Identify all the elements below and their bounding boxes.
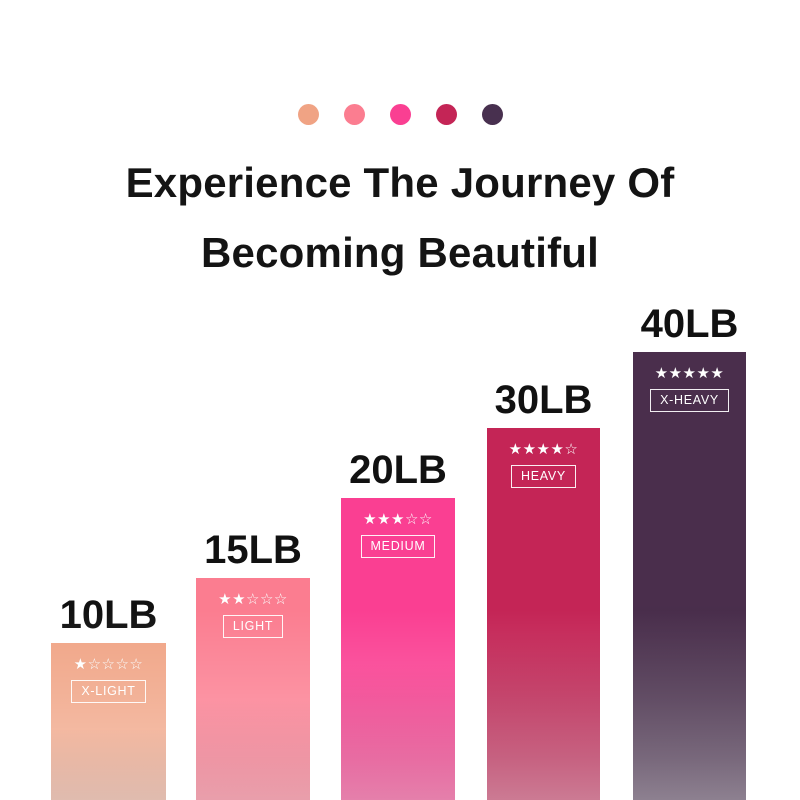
star-empty-icon: ☆ bbox=[564, 442, 578, 458]
poster-canvas: Experience The Journey Of Becoming Beaut… bbox=[0, 0, 800, 800]
bar-badge-10lb: ★☆☆☆☆X-LIGHT bbox=[51, 657, 166, 703]
star-filled-icon: ★ bbox=[363, 512, 377, 528]
star-rating: ★★★☆☆ bbox=[363, 512, 433, 528]
star-empty-icon: ☆ bbox=[115, 657, 129, 673]
bar-weight-label-40lb: 40LB bbox=[641, 302, 739, 346]
star-filled-icon: ★ bbox=[391, 512, 405, 528]
star-rating: ★★☆☆☆ bbox=[218, 592, 288, 608]
bar-weight-label-30lb: 30LB bbox=[495, 378, 593, 422]
star-filled-icon: ★ bbox=[218, 592, 232, 608]
star-filled-icon: ★ bbox=[523, 442, 537, 458]
bar-badge-40lb: ★★★★★X-HEAVY bbox=[633, 366, 746, 412]
star-filled-icon: ★ bbox=[509, 442, 523, 458]
star-filled-icon: ★ bbox=[537, 442, 551, 458]
level-badge-medium: MEDIUM bbox=[361, 535, 436, 558]
bar-bottom-fade bbox=[341, 610, 455, 800]
bar-group-10lb[interactable]: 10LB★☆☆☆☆X-LIGHT bbox=[51, 643, 166, 800]
bar-group-40lb[interactable]: 40LB★★★★★X-HEAVY bbox=[633, 352, 746, 800]
bar-weight-label-10lb: 10LB bbox=[60, 593, 158, 637]
bar-bottom-fade bbox=[487, 610, 600, 800]
star-filled-icon: ★ bbox=[710, 366, 724, 382]
star-rating: ★☆☆☆☆ bbox=[74, 657, 144, 673]
bar-bottom-fade bbox=[633, 610, 746, 800]
level-badge-x-heavy: X-HEAVY bbox=[650, 389, 729, 412]
bar-group-15lb[interactable]: 15LB★★☆☆☆LIGHT bbox=[196, 578, 310, 800]
star-rating: ★★★★☆ bbox=[509, 442, 579, 458]
star-filled-icon: ★ bbox=[232, 592, 246, 608]
bar-group-20lb[interactable]: 20LB★★★☆☆MEDIUM bbox=[341, 498, 455, 800]
star-rating: ★★★★★ bbox=[655, 366, 725, 382]
star-filled-icon: ★ bbox=[683, 366, 697, 382]
bar-badge-20lb: ★★★☆☆MEDIUM bbox=[341, 512, 455, 558]
bar-bottom-fade bbox=[196, 610, 310, 800]
star-filled-icon: ★ bbox=[377, 512, 391, 528]
star-filled-icon: ★ bbox=[74, 657, 88, 673]
level-badge-x-light: X-LIGHT bbox=[71, 680, 145, 703]
star-filled-icon: ★ bbox=[696, 366, 710, 382]
bar-weight-label-20lb: 20LB bbox=[349, 448, 447, 492]
bar-bottom-fade bbox=[51, 610, 166, 800]
star-empty-icon: ☆ bbox=[129, 657, 143, 673]
star-empty-icon: ☆ bbox=[405, 512, 419, 528]
bar-badge-15lb: ★★☆☆☆LIGHT bbox=[196, 592, 310, 638]
bar-40lb[interactable]: ★★★★★X-HEAVY bbox=[633, 352, 746, 800]
bar-badge-30lb: ★★★★☆HEAVY bbox=[487, 442, 600, 488]
level-badge-heavy: HEAVY bbox=[511, 465, 576, 488]
star-empty-icon: ☆ bbox=[260, 592, 274, 608]
star-filled-icon: ★ bbox=[550, 442, 564, 458]
bar-weight-label-15lb: 15LB bbox=[204, 528, 302, 572]
bar-20lb[interactable]: ★★★☆☆MEDIUM bbox=[341, 498, 455, 800]
star-empty-icon: ☆ bbox=[246, 592, 260, 608]
star-empty-icon: ☆ bbox=[274, 592, 288, 608]
resistance-bar-chart: 10LB★☆☆☆☆X-LIGHT15LB★★☆☆☆LIGHT20LB★★★☆☆M… bbox=[0, 0, 800, 800]
star-filled-icon: ★ bbox=[655, 366, 669, 382]
level-badge-light: LIGHT bbox=[223, 615, 283, 638]
star-filled-icon: ★ bbox=[669, 366, 683, 382]
bar-30lb[interactable]: ★★★★☆HEAVY bbox=[487, 428, 600, 800]
bar-15lb[interactable]: ★★☆☆☆LIGHT bbox=[196, 578, 310, 800]
bar-group-30lb[interactable]: 30LB★★★★☆HEAVY bbox=[487, 428, 600, 800]
star-empty-icon: ☆ bbox=[419, 512, 433, 528]
star-empty-icon: ☆ bbox=[88, 657, 102, 673]
bar-10lb[interactable]: ★☆☆☆☆X-LIGHT bbox=[51, 643, 166, 800]
star-empty-icon: ☆ bbox=[102, 657, 116, 673]
